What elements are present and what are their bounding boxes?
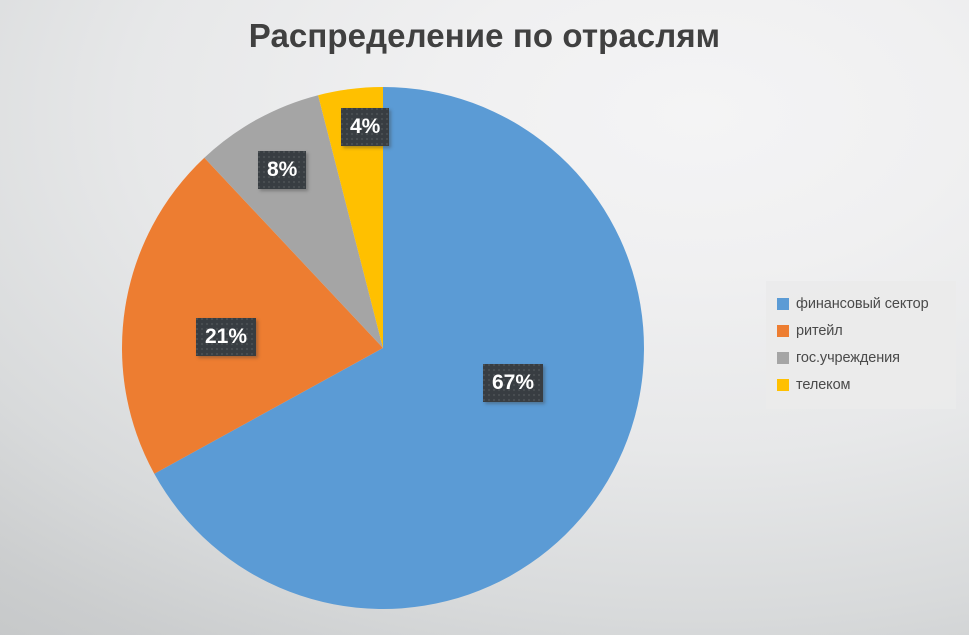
- data-label-slice-1: 21%: [196, 318, 256, 356]
- legend-item-1[interactable]: ритейл: [766, 317, 956, 344]
- legend-color-swatch-icon: [777, 352, 789, 364]
- legend-item-label: финансовый сектор: [796, 296, 929, 312]
- legend-color-swatch-icon: [777, 325, 789, 337]
- legend-item-3[interactable]: телеком: [766, 371, 956, 398]
- chart-canvas: Распределение по отраслям 67% 21% 8% 4% …: [0, 0, 969, 635]
- chart-title: Распределение по отраслям: [0, 17, 969, 55]
- legend-item-0[interactable]: финансовый сектор: [766, 290, 956, 317]
- legend-item-label: гос.учреждения: [796, 350, 900, 366]
- legend-color-swatch-icon: [777, 298, 789, 310]
- chart-legend: финансовый сектор ритейл гос.учреждения …: [766, 281, 956, 409]
- legend-item-2[interactable]: гос.учреждения: [766, 344, 956, 371]
- legend-item-label: телеком: [796, 377, 850, 393]
- legend-item-label: ритейл: [796, 323, 843, 339]
- data-label-slice-0: 67%: [483, 364, 543, 402]
- data-label-slice-2: 8%: [258, 151, 306, 189]
- legend-color-swatch-icon: [777, 379, 789, 391]
- data-label-slice-3: 4%: [341, 108, 389, 146]
